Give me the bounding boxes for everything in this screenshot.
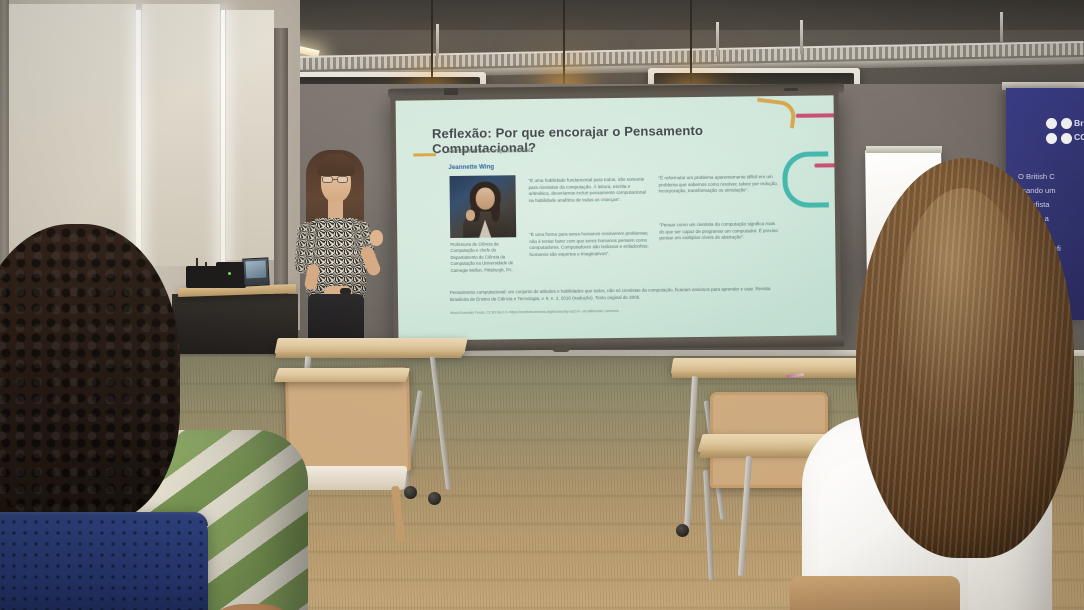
screen-pull-tab[interactable]	[552, 345, 570, 352]
tray-hanger	[1000, 12, 1003, 42]
slide-quote-4: "Pensar como um cientista da computação …	[659, 221, 781, 242]
british-council-logo	[1046, 118, 1072, 144]
slide-person-bio: Professora de Ciência da Computação e ch…	[450, 241, 520, 274]
desk-caster	[404, 486, 417, 499]
slide-quote-1: "É uma habilidade fundamental para todos…	[529, 177, 651, 205]
presenter-glasses-right	[337, 176, 348, 183]
desk-caster	[676, 524, 689, 537]
slide-subtitle: Pensamento computacional	[448, 147, 531, 155]
decor-teal-arc	[782, 151, 829, 208]
chair-right-foreground[interactable]	[790, 576, 960, 610]
attendee-left-hair	[0, 224, 180, 524]
window-blind-3[interactable]	[226, 10, 274, 260]
attendee-right	[828, 158, 1084, 610]
banner-brand-line2: CO	[1074, 132, 1084, 142]
attendee-right-hair-highlight	[898, 188, 1028, 438]
desk-caster	[428, 492, 441, 505]
presenter-hand-raised	[370, 230, 383, 246]
tray-hanger	[800, 20, 803, 54]
pendant-cord	[563, 0, 565, 84]
slide-portrait-photo	[449, 175, 516, 238]
banner-brand-line1: British C	[1074, 118, 1084, 128]
pendant-cord	[431, 0, 433, 92]
ceiling-recess	[300, 0, 1084, 30]
pendant-cord	[690, 0, 692, 92]
slide-quote-3: "É reformular um problema aparentemente …	[658, 174, 780, 195]
slide-gold-dash	[413, 153, 436, 156]
presenter-glasses-bridge	[332, 179, 337, 180]
blue-chair[interactable]	[0, 516, 208, 610]
slide-footnote: Pensamento computacional: um conjunto de…	[450, 286, 790, 303]
slide-quote-2: "É uma forma para seres humanos resolver…	[529, 231, 651, 259]
slide-source-credit: World Economic Forum, CC BY-SA 2.0 <http…	[450, 307, 790, 315]
slide-person-name: Jeannette Wing	[448, 163, 494, 171]
projection-screen: Reflexão: Por que encorajar o Pensamento…	[390, 90, 841, 345]
tray-hanger	[436, 24, 439, 58]
tray-hanger	[716, 22, 719, 56]
presentation-slide: Reflexão: Por que encorajar o Pensamento…	[396, 95, 837, 340]
classroom-photo: British C CO O British C usando um megra…	[0, 0, 1084, 610]
decor-pink-bar-1	[796, 113, 837, 118]
flipchart-clip	[866, 146, 942, 153]
presenter-fringe	[317, 154, 355, 176]
